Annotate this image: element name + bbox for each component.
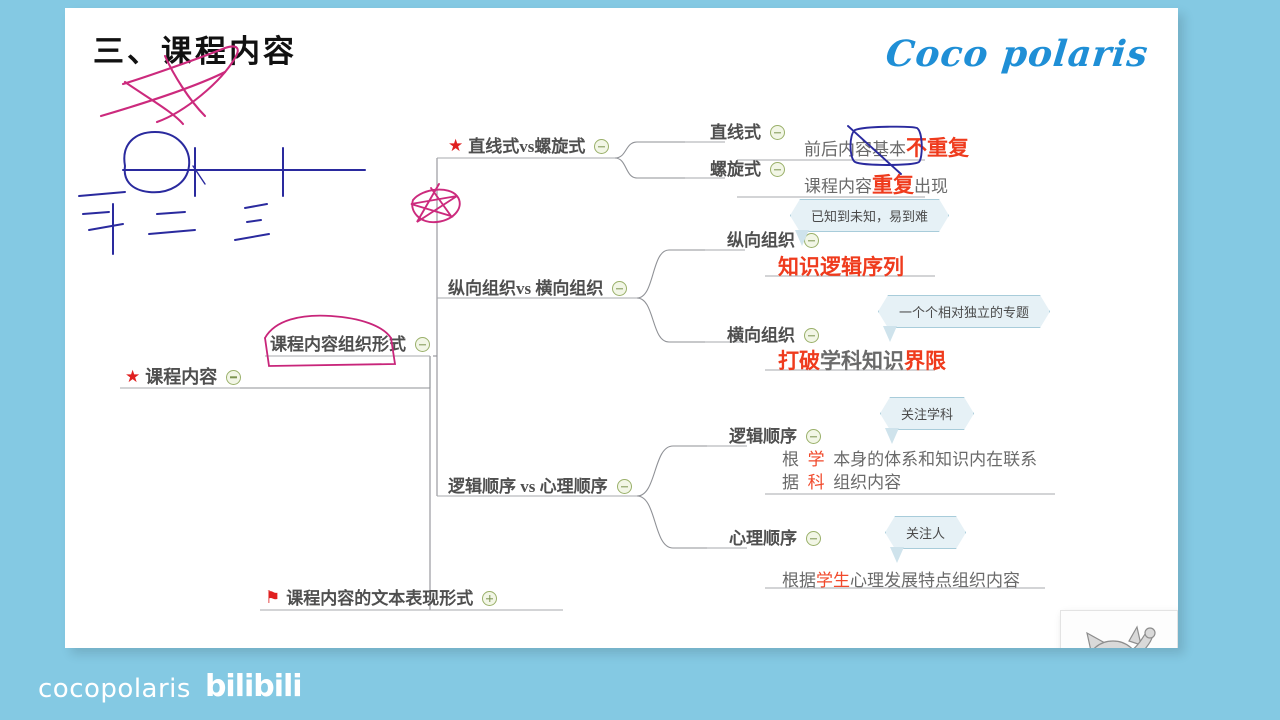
callout-tail-icon — [885, 428, 899, 444]
mindmap-node-linear[interactable]: 直线式 — [710, 124, 785, 142]
node-label: 螺旋式 — [710, 161, 761, 179]
leaf-text-highlight-b: 界限 — [904, 345, 946, 375]
leaf-text-highlight: 知识逻辑序列 — [778, 251, 904, 281]
leaf-text-plain-tail: 心理发展特点组织内容 — [850, 566, 1020, 591]
leaf-text-highlight: 学生 — [816, 566, 850, 591]
callout-tail-icon — [890, 547, 904, 563]
mindmap-connectors — [65, 8, 1178, 648]
mindmap-node-logical-order[interactable]: 逻辑顺序 — [729, 428, 821, 446]
collapse-toggle-logical-order[interactable] — [806, 429, 821, 444]
mindmap-node-content-organization-form[interactable]: 课程内容组织形式 — [270, 336, 430, 354]
node-label: 课程内容 — [145, 368, 217, 387]
mindmap-leaf-linear-desc[interactable]: 前后内容基本 不重复 — [804, 132, 969, 162]
cat-sticker: 努力努力再努力! — [1060, 610, 1178, 648]
collapse-toggle-psychological-order[interactable] — [806, 531, 821, 546]
red-star-icon: ★ — [448, 138, 463, 155]
leaf-text-plain: 学科知识 — [820, 345, 904, 375]
node-label: 纵向组织 — [727, 232, 795, 250]
mindmap-leaf-psychological-desc[interactable]: 根据 学生 心理发展特点组织内容 — [782, 566, 1020, 591]
node-label: 课程内容组织形式 — [270, 336, 406, 354]
collapse-toggle-linear-vs-spiral[interactable] — [594, 139, 609, 154]
leaf-text-highlight: 重复 — [872, 169, 914, 199]
leaf-text-plain-tail: 本身的体系和知识内在联系组织内容 — [833, 448, 1038, 495]
gray-cat-icon — [1061, 611, 1178, 648]
collapse-toggle-horizontal-organization[interactable] — [804, 328, 819, 343]
mindmap-node-logical-vs-psychological[interactable]: 逻辑顺序 vs 心理顺序 — [448, 478, 632, 496]
mindmap-leaf-horizontal-desc[interactable]: 打破 学科知识 界限 — [778, 345, 946, 375]
footer-bar: cocopolaris bilibili — [38, 669, 302, 704]
node-label: 逻辑顺序 vs 心理顺序 — [448, 478, 608, 496]
leaf-text-plain: 前后内容基本 — [804, 135, 906, 160]
callout-tail-icon — [795, 230, 809, 246]
mindmap-leaf-spiral-desc[interactable]: 课程内容 重复 出现 — [804, 169, 948, 199]
mindmap-node-linear-vs-spiral[interactable]: ★ 直线式vs螺旋式 — [448, 138, 609, 156]
collapse-toggle-spiral[interactable] — [770, 162, 785, 177]
node-label: 横向组织 — [727, 327, 795, 345]
collapse-toggle-vertical-vs-horizontal[interactable] — [612, 281, 627, 296]
node-label: 课程内容的文本表现形式 — [286, 590, 473, 608]
node-label: 纵向组织vs 横向组织 — [448, 280, 603, 298]
mindmap-leaf-vertical-desc[interactable]: 知识逻辑序列 — [778, 251, 904, 281]
leaf-text-highlight: 不重复 — [906, 132, 969, 162]
mindmap-leaf-logical-desc[interactable]: 根据学科本身的体系和知识内在联系组织内容 — [782, 448, 1038, 495]
mindmap-node-horizontal-organization[interactable]: 横向组织 — [727, 327, 819, 345]
platform-logo: bilibili — [205, 669, 302, 704]
leaf-text-plain-tail: 出现 — [914, 172, 948, 197]
mindmap-node-spiral[interactable]: 螺旋式 — [710, 161, 785, 179]
callout-psychological-order: 关注人 — [885, 516, 966, 549]
mindmap-node-psychological-order[interactable]: 心理顺序 — [729, 530, 821, 548]
mindmap-node-text-expression-form[interactable]: ⚑ 课程内容的文本表现形式 — [265, 590, 497, 608]
red-star-icon: ★ — [125, 369, 140, 386]
expand-toggle-branch-2[interactable] — [482, 591, 497, 606]
red-flag-icon: ⚑ — [265, 590, 280, 607]
leaf-text-plain: 根据 — [782, 448, 808, 495]
leaf-text-highlight-a: 打破 — [778, 345, 820, 375]
mindmap-node-vertical-vs-horizontal[interactable]: 纵向组织vs 横向组织 — [448, 280, 627, 298]
slide-canvas: 三、课程内容 Coco polaris — [65, 8, 1178, 648]
leaf-text-highlight: 学科 — [808, 448, 834, 495]
collapse-toggle-branch-1[interactable] — [415, 337, 430, 352]
leaf-text-plain: 根据 — [782, 566, 816, 591]
node-label: 逻辑顺序 — [729, 428, 797, 446]
callout-logical-order: 关注学科 — [880, 397, 974, 430]
callout-vertical-organization: 已知到未知，易到难 — [790, 199, 949, 232]
callout-tail-icon — [883, 326, 897, 342]
collapse-toggle-linear[interactable] — [770, 125, 785, 140]
mindmap-root-node[interactable]: ★ 课程内容 — [125, 368, 241, 387]
leaf-text-plain: 课程内容 — [804, 172, 872, 197]
node-label: 直线式vs螺旋式 — [468, 138, 585, 156]
channel-name: cocopolaris — [38, 674, 191, 704]
mindmap: ★ 课程内容 课程内容组织形式 ⚑ 课程内容的文本表现形式 ★ 直线式vs螺旋式… — [65, 8, 1178, 648]
collapse-toggle-root[interactable] — [226, 370, 241, 385]
collapse-toggle-logical-vs-psychological[interactable] — [617, 479, 632, 494]
node-label: 直线式 — [710, 124, 761, 142]
node-label: 心理顺序 — [729, 530, 797, 548]
callout-horizontal-organization: 一个个相对独立的专题 — [878, 295, 1050, 328]
